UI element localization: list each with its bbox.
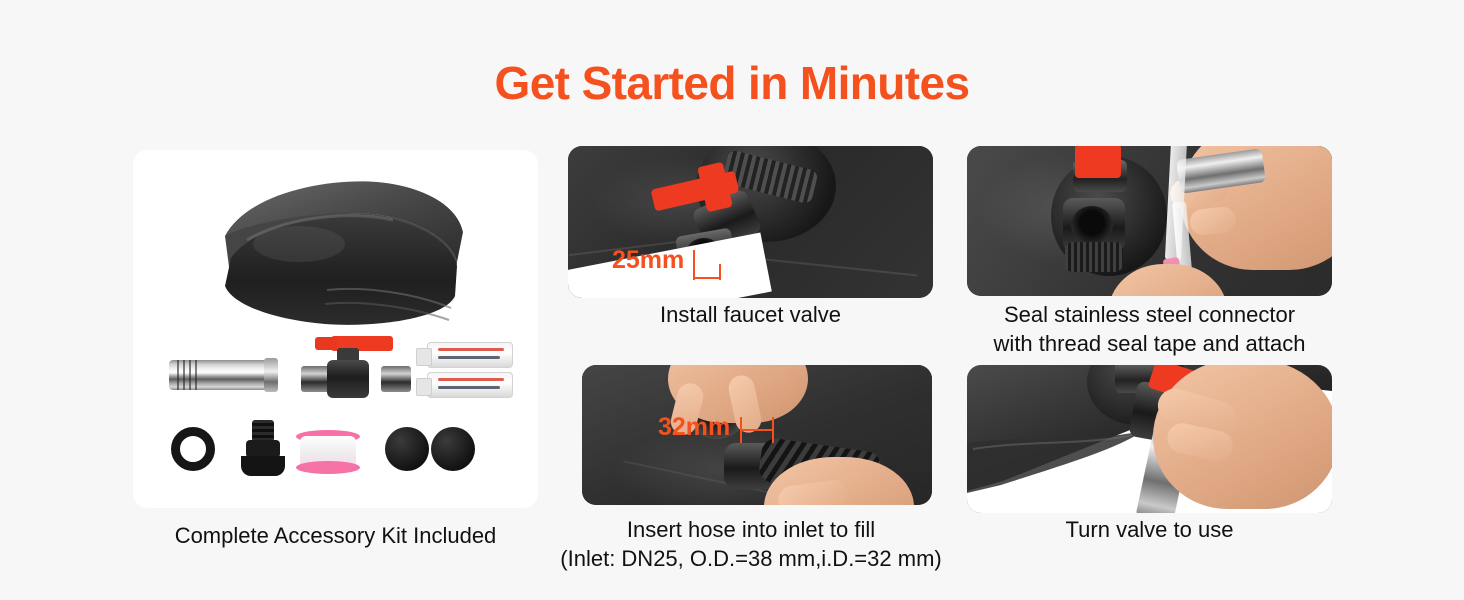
infographic-root: Get Started in Minutes [0, 0, 1464, 600]
step-seal-connector-caption-line2: with thread seal tape and attach [957, 329, 1342, 358]
step-insert-hose-caption-line2: (Inlet: DN25, O.D.=38 mm,i.D.=32 mm) [537, 544, 965, 573]
dimension-bar-2 [740, 429, 774, 431]
dimension-label-25mm: 25mm [612, 246, 684, 275]
sealant-tube-item-1 [427, 342, 513, 368]
dimension-label-32mm: 32mm [658, 413, 730, 442]
dimension-tick-right [719, 264, 721, 280]
step-install-faucet-valve-image: 25mm [568, 146, 933, 298]
o-ring-item [171, 427, 215, 471]
step-turn-valve-image [967, 365, 1332, 513]
folded-bladder-image [207, 178, 469, 328]
step-turn-valve-caption: Turn valve to use [967, 515, 1332, 544]
step-seal-connector-caption: Seal stainless steel connector with thre… [957, 300, 1342, 358]
step-seal-connector-image [967, 146, 1332, 296]
accessory-kit-caption: Complete Accessory Kit Included [133, 521, 538, 550]
step-seal-connector-caption-line1: Seal stainless steel connector [1004, 302, 1295, 327]
dimension-bar [693, 277, 721, 279]
accessory-kit-card [133, 150, 538, 508]
step-insert-hose-caption: Insert hose into inlet to fill (Inlet: D… [537, 515, 965, 573]
black-cap-item-1 [385, 427, 429, 471]
black-cap-item-2 [431, 427, 475, 471]
page-title: Get Started in Minutes [0, 56, 1464, 110]
step-install-faucet-valve-caption: Install faucet valve [568, 300, 933, 329]
hose-adapter-item [241, 420, 285, 476]
ptfe-tape-item [296, 430, 360, 474]
dimension-tick-right-2 [772, 417, 774, 443]
step-insert-hose-image: 32mm [582, 365, 932, 505]
step-insert-hose-caption-line1: Insert hose into inlet to fill [627, 517, 875, 542]
sealant-tube-item-2 [427, 372, 513, 398]
ball-valve-item [301, 336, 411, 402]
dimension-tick-left [693, 250, 695, 280]
stainless-steel-connector-item [169, 360, 275, 390]
